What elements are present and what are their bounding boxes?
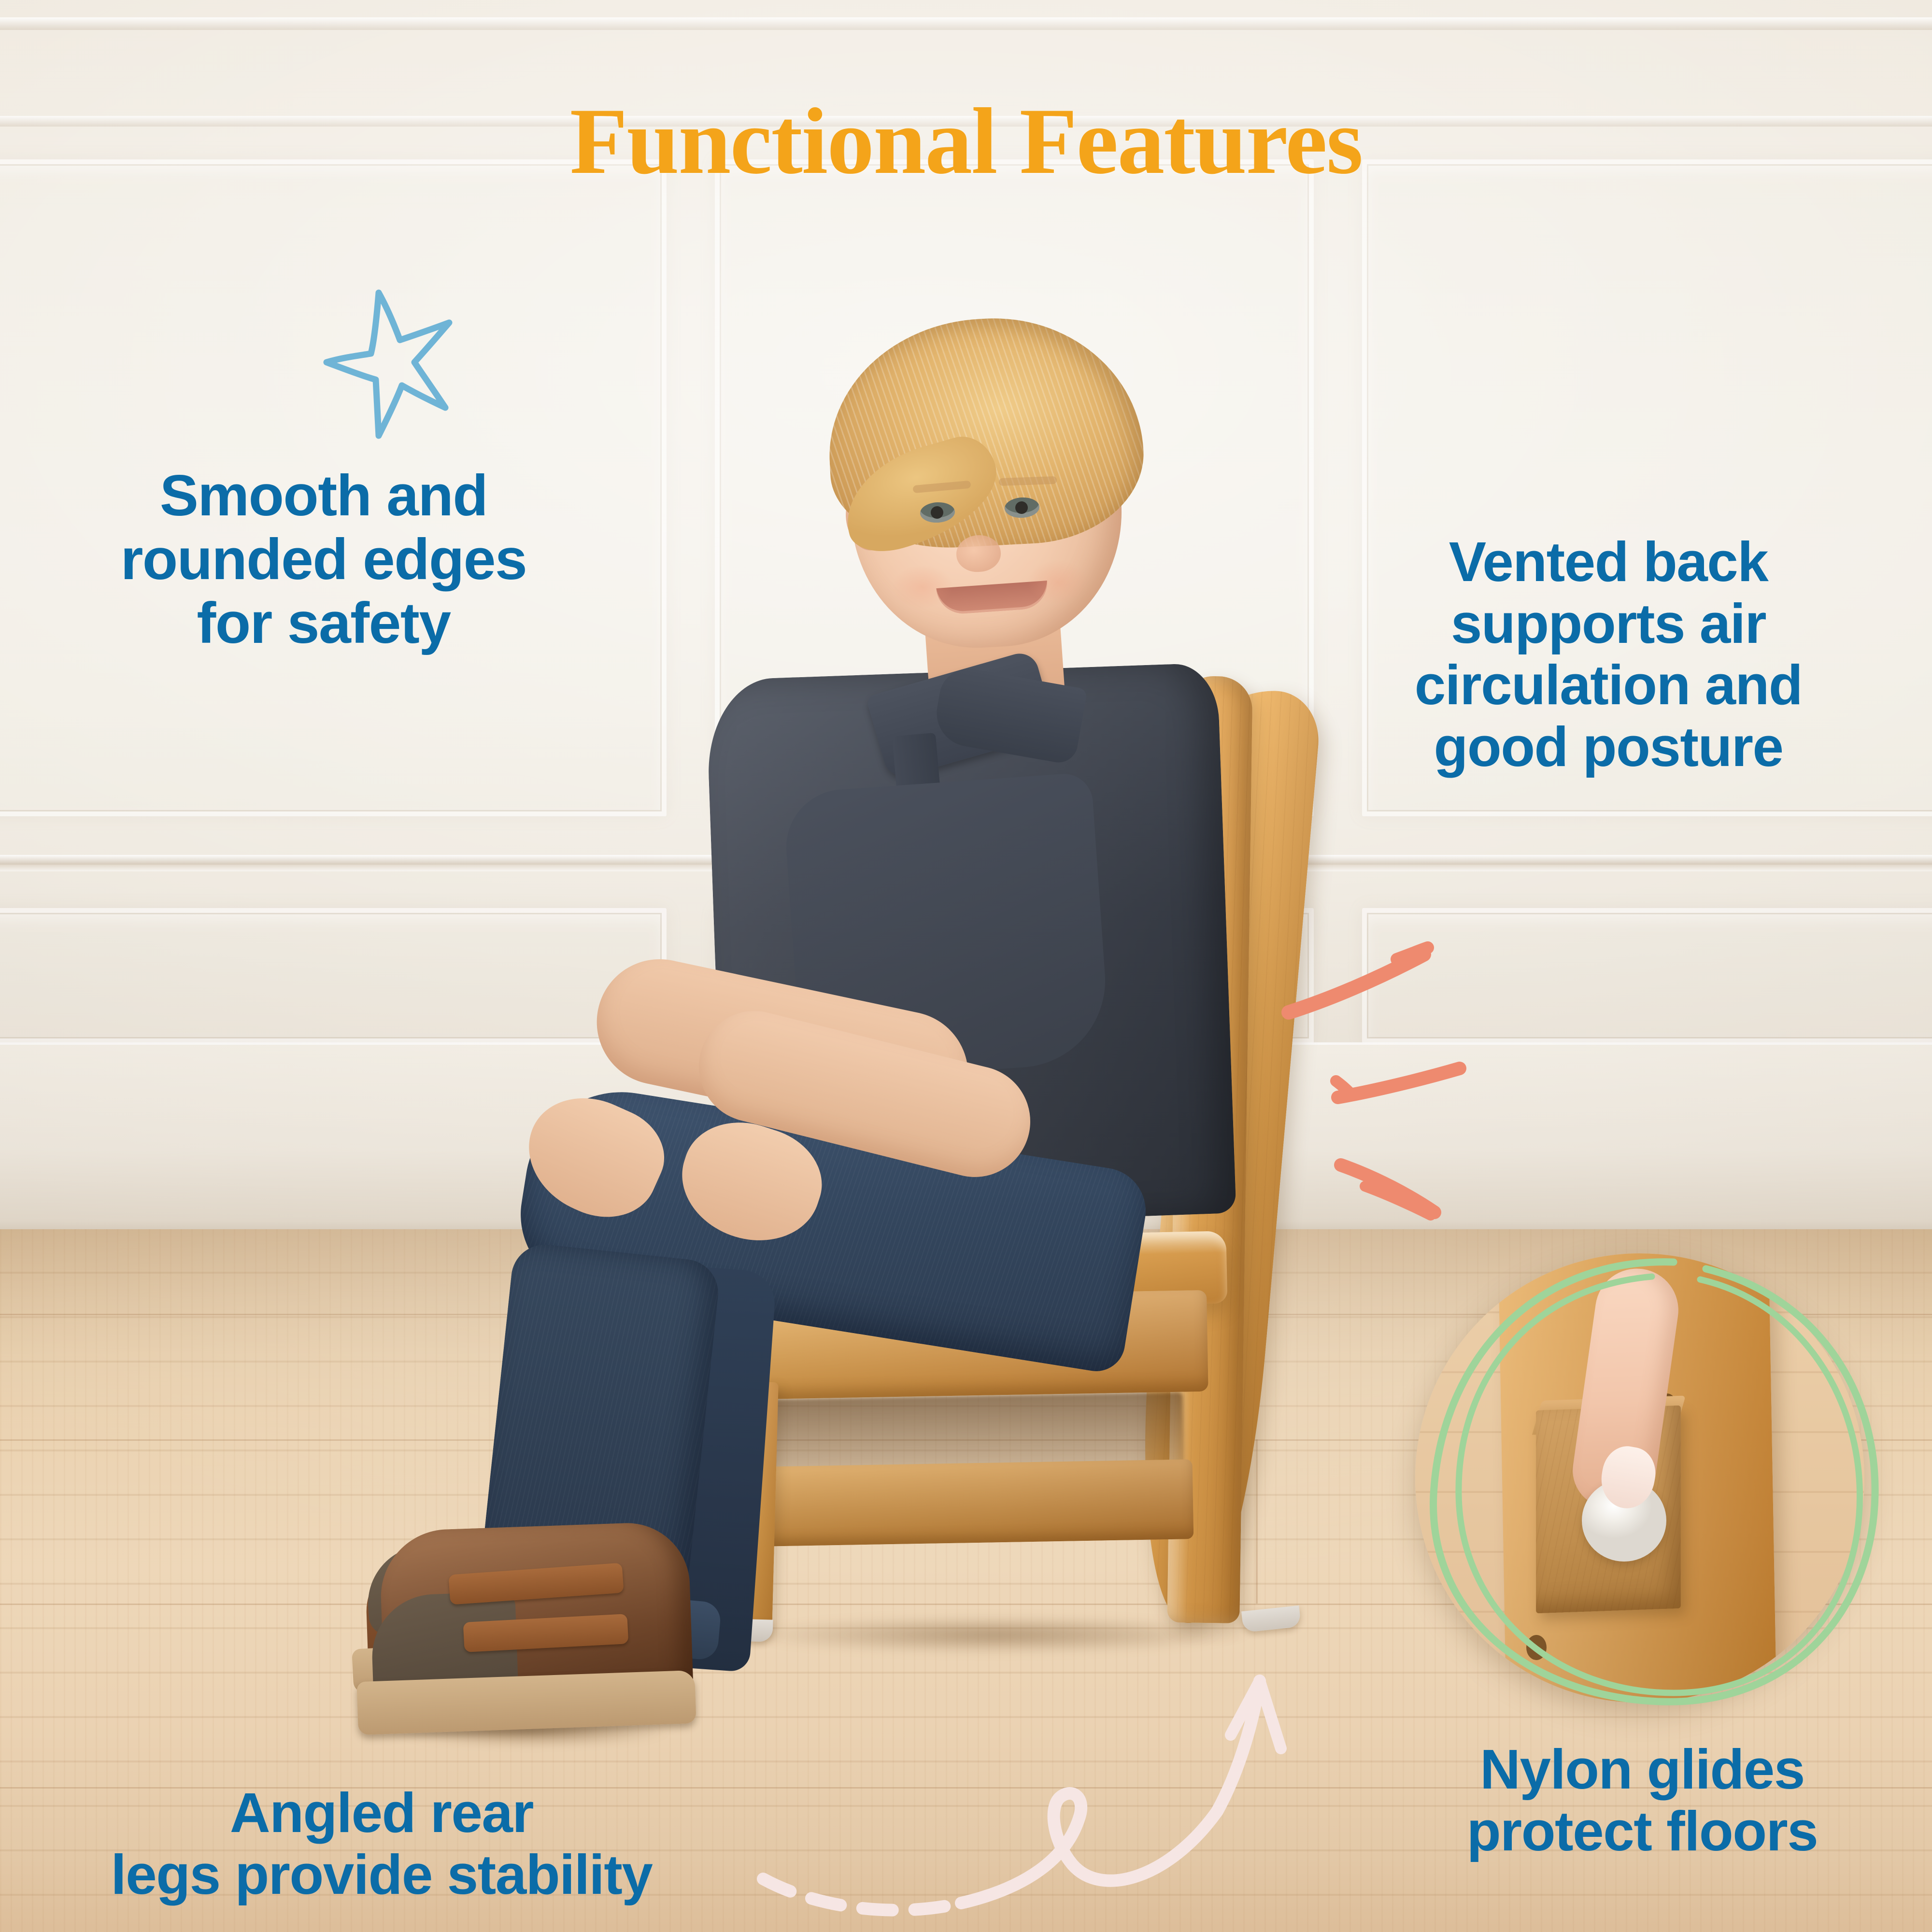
callout-line: supports air — [1333, 593, 1884, 655]
callout-vented-back: Vented back supports air circulation and… — [1333, 531, 1884, 778]
callout-line: protect floors — [1372, 1801, 1913, 1862]
callout-line: rounded edges — [82, 527, 565, 591]
curved-arrow-icon — [734, 1652, 1343, 1932]
star-icon — [319, 285, 478, 444]
callout-line: legs provide stability — [5, 1844, 758, 1906]
callout-angled-rear-legs: Angled rear legs provide stability — [5, 1782, 758, 1905]
callout-line: circulation and — [1333, 654, 1884, 716]
inset-screw-hole — [1526, 1635, 1547, 1660]
callout-line: Vented back — [1333, 531, 1884, 593]
boy-cheek-left — [879, 555, 966, 618]
speed-lines-icon — [1270, 927, 1521, 1227]
chair-lower-stretcher — [705, 1459, 1194, 1548]
callout-line: Smooth and — [82, 464, 565, 527]
callout-line: for safety — [82, 591, 565, 655]
callout-line: Angled rear — [5, 1782, 758, 1844]
nylon-glide-inset-photo — [1415, 1253, 1864, 1703]
callout-nylon-glides: Nylon glides protect floors — [1372, 1739, 1913, 1862]
callout-smooth-rounded-edges: Smooth and rounded edges for safety — [82, 464, 565, 655]
infographic-canvas: Functional Features Smooth and rounded e… — [0, 0, 1932, 1932]
page-title: Functional Features — [0, 94, 1932, 189]
callout-line: good posture — [1333, 716, 1884, 778]
boy-cheek-right — [1014, 551, 1101, 613]
callout-line: Nylon glides — [1372, 1739, 1913, 1801]
